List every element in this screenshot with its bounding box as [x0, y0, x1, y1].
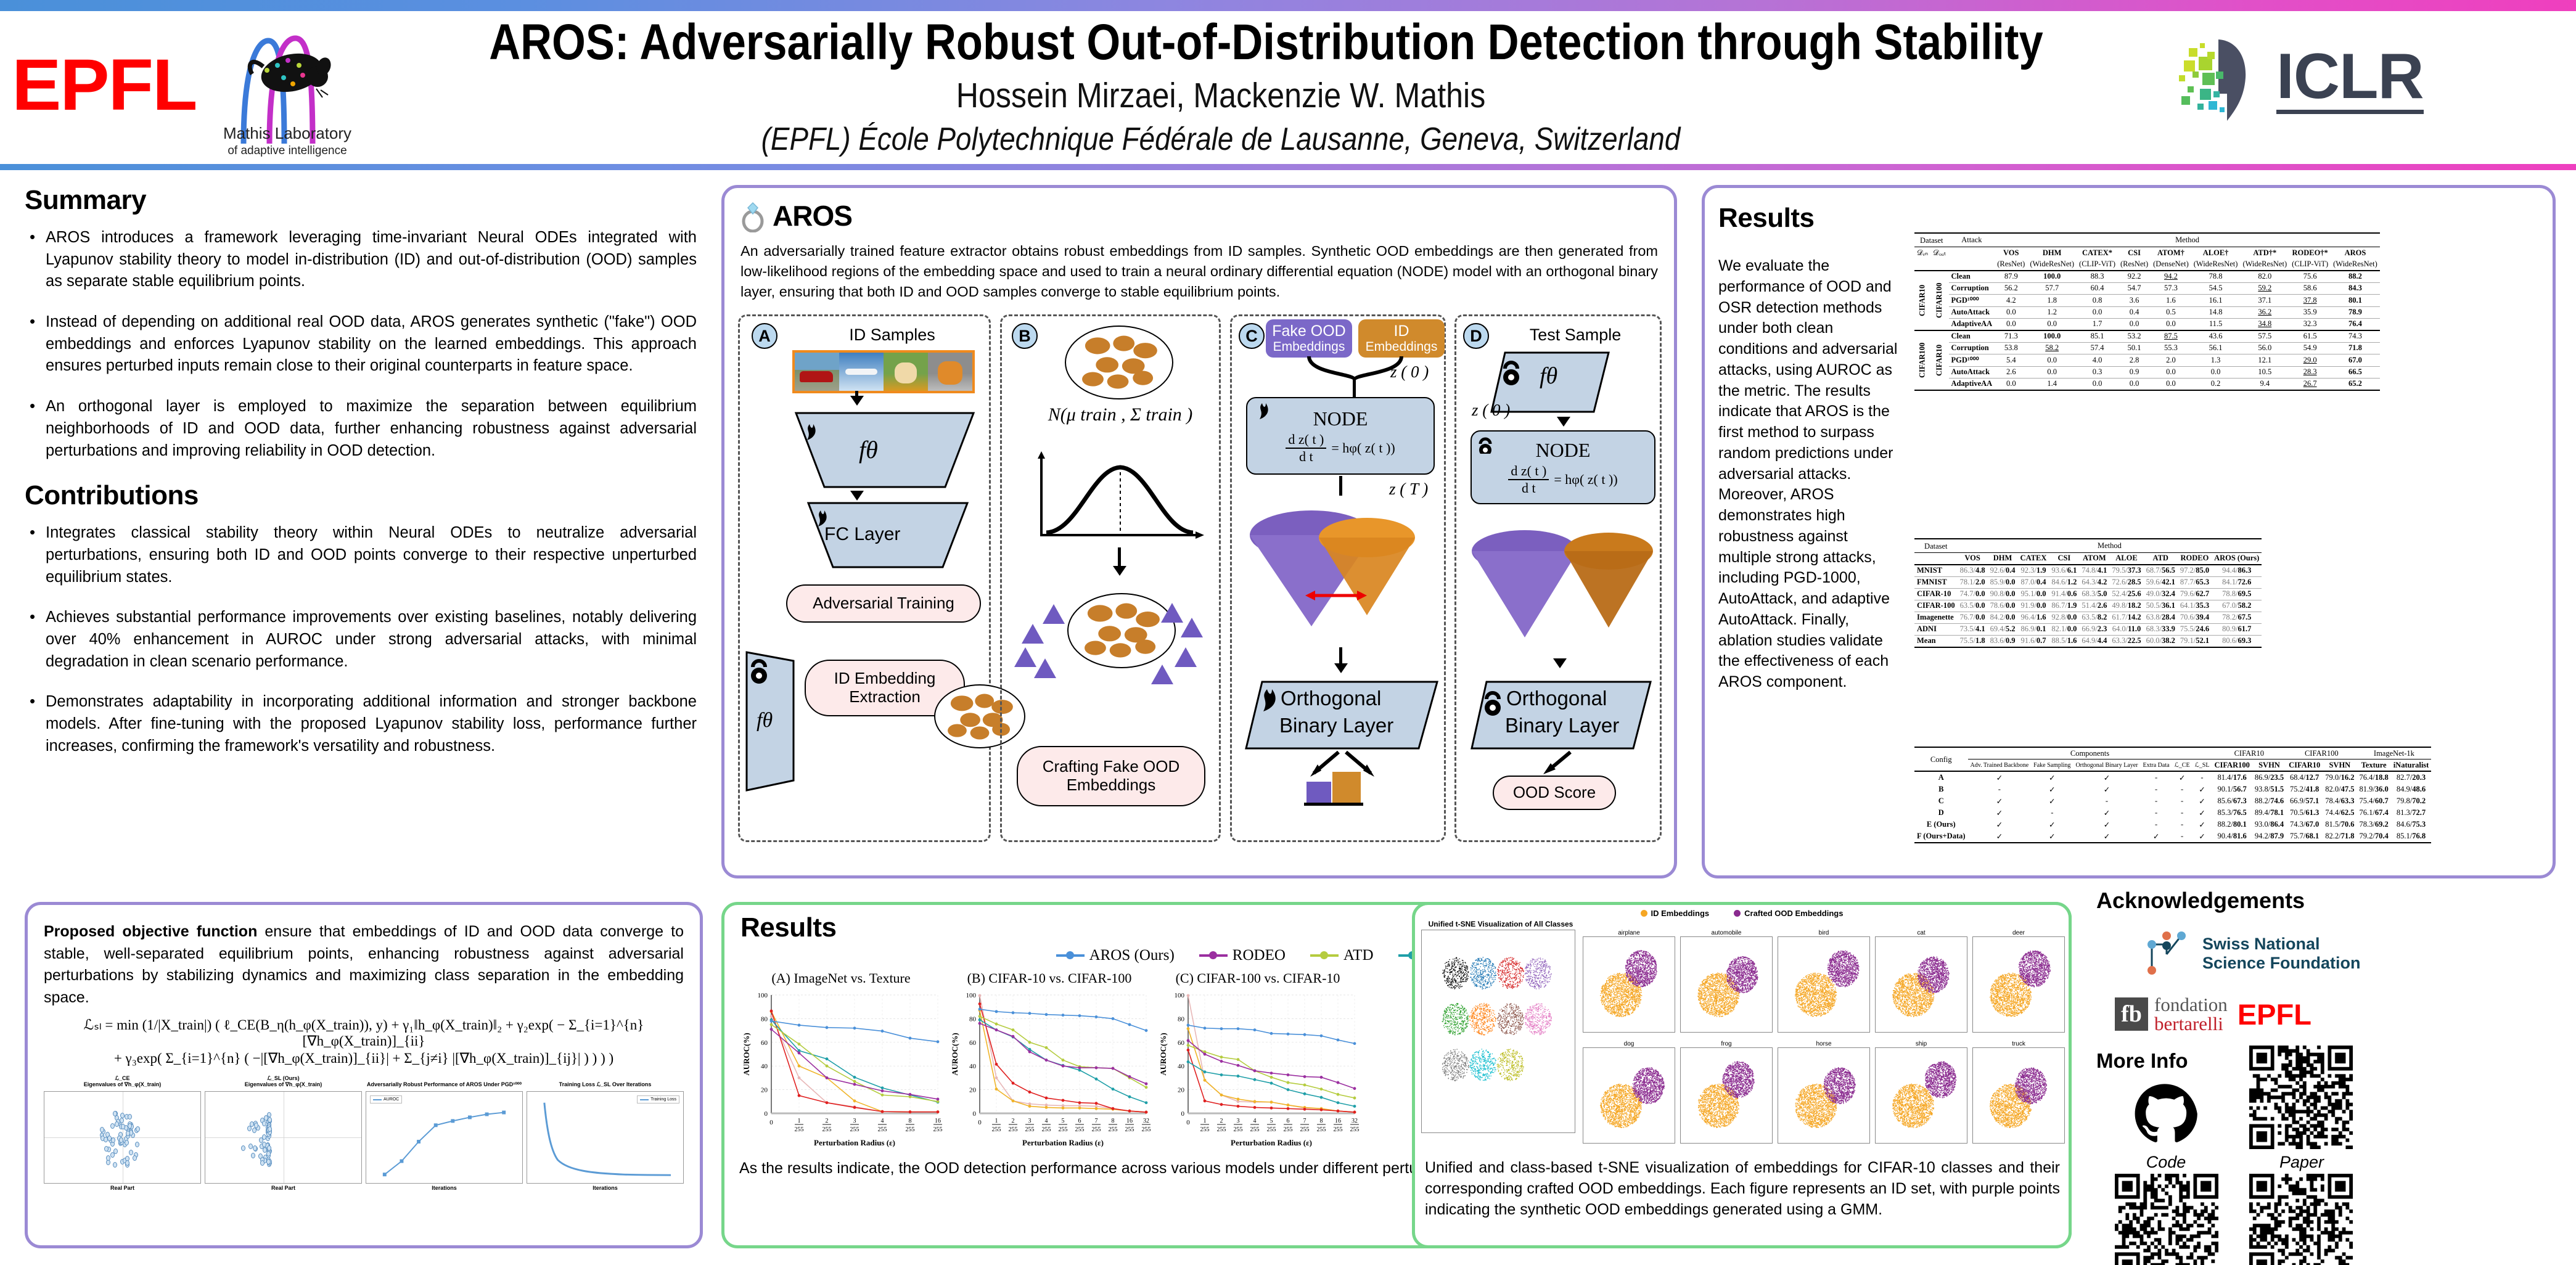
- gaussian-curve-plot: [1034, 444, 1207, 549]
- qr-code-paper-top[interactable]: [2249, 1046, 2353, 1149]
- svg-text:Perturbation Radius (ε): Perturbation Radius (ε): [1022, 1138, 1104, 1147]
- code-label: Code: [2115, 1153, 2217, 1172]
- orthogonal-label-d1: Orthogonal: [1506, 687, 1607, 710]
- svg-text:255: 255: [878, 1126, 887, 1133]
- objective-panel: Proposed objective function ensure that …: [25, 902, 703, 1248]
- fondation-text: fondation bertarelli: [2154, 995, 2228, 1033]
- contributions-list: Integrates classical stability theory wi…: [25, 522, 697, 757]
- badge-d: D: [1463, 323, 1489, 349]
- loss-curve: [527, 1092, 683, 1183]
- svg-text:40: 40: [969, 1063, 977, 1070]
- eigenvalue-chart-sl: ℒ_SL (Ours) Eigenvalues of ∇h_φ(X_train)…: [205, 1075, 362, 1196]
- svg-text:80: 80: [1178, 1015, 1185, 1023]
- svg-text:3: 3: [1237, 1118, 1240, 1124]
- mini-superscript: ℒ_CE: [44, 1075, 201, 1081]
- legend-ood-embeddings: Crafted OOD Embeddings: [1734, 909, 1843, 918]
- tsne-legend: ID Embeddings Crafted OOD Embeddings: [1415, 905, 2069, 918]
- id-sample-images: [792, 350, 975, 393]
- svg-text:255: 255: [822, 1126, 832, 1133]
- fondation-bertarelli-logo: fb fondation bertarelli EPFL: [2115, 995, 2565, 1033]
- svg-text:20: 20: [969, 1087, 977, 1094]
- svg-text:255: 255: [1217, 1126, 1226, 1133]
- objective-formula: ℒₛₗ = min (1/|X_train|) ( ℓ_CE(B_η(h_φ(X…: [44, 1017, 684, 1066]
- list-item: AROS introduces a framework leveraging t…: [25, 227, 697, 293]
- adversarial-training-pill: Adversarial Training: [786, 584, 981, 623]
- svg-text:4: 4: [1045, 1118, 1048, 1124]
- node-eq-den-d: d t: [1508, 480, 1549, 496]
- results-right-panel: Results We evaluate the performance of O…: [1702, 185, 2556, 878]
- svg-text:20: 20: [1178, 1087, 1185, 1094]
- paper-label: Paper: [2250, 1153, 2353, 1172]
- svg-text:255: 255: [1284, 1126, 1293, 1133]
- mini-plot-area: Training Loss: [527, 1091, 684, 1184]
- aros-header: AROS: [724, 188, 1674, 232]
- mini-plot-area: [44, 1091, 201, 1184]
- legend-line: [1199, 954, 1228, 957]
- svg-text:255: 255: [1009, 1126, 1018, 1133]
- poster-header: EPFL Mathis Laboratory of adaptive intel…: [0, 11, 2576, 164]
- table-3: ConfigComponentsCIFAR10CIFAR100ImageNet-…: [1914, 747, 2431, 843]
- chart-title: (B) CIFAR-10 vs. CIFAR-100: [948, 970, 1151, 986]
- auroc-curve: [366, 1092, 522, 1183]
- svg-text:2: 2: [826, 1118, 829, 1124]
- svg-text:255: 255: [850, 1126, 859, 1133]
- svg-text:80: 80: [969, 1015, 977, 1023]
- id-tag-sub: Embeddings: [1366, 340, 1438, 354]
- tsne-class-label: frog: [1680, 1041, 1773, 1047]
- test-sample-label: Test Sample: [1495, 325, 1655, 345]
- svg-text:4: 4: [1253, 1118, 1257, 1124]
- tsne-cell: frog: [1680, 1041, 1773, 1147]
- legend-label: AROS (Ours): [1089, 947, 1175, 964]
- left-column: Summary AROS introduces a framework leve…: [25, 185, 697, 776]
- chart-3: (C) CIFAR-100 vs. CIFAR-1002040608010001…: [1156, 970, 1360, 1156]
- f-theta-locked-label: fθ: [757, 709, 773, 732]
- lab-tagline: of adaptive intelligence: [220, 144, 355, 158]
- snsf-line-2: Science Foundation: [2202, 954, 2361, 973]
- svg-text:0: 0: [765, 1110, 768, 1118]
- fc-layer-label: FC Layer: [824, 524, 900, 545]
- mini-plot-area: [205, 1091, 362, 1184]
- svg-text:8: 8: [1320, 1118, 1323, 1124]
- mini-xlabel: Real Part: [44, 1185, 201, 1191]
- tsne-cell: ship: [1875, 1041, 1967, 1147]
- legend-label-id: ID Embeddings: [1651, 909, 1710, 918]
- tsne-main-title: Unified t-SNE Visualization of All Class…: [1424, 920, 1578, 928]
- legend-item: ATD: [1310, 947, 1374, 964]
- poster-root: EPFL Mathis Laboratory of adaptive intel…: [0, 0, 2576, 1265]
- mini-title: ℒ_CE Eigenvalues of ∇h_φ(X_train): [44, 1075, 201, 1091]
- legend-label: ATD: [1343, 947, 1374, 964]
- svg-text:255: 255: [1092, 1126, 1101, 1133]
- svg-text:255: 255: [1300, 1126, 1310, 1133]
- page-title: AROS: Adversarially Robust Out-of-Distri…: [489, 16, 1953, 69]
- equilibrium-cones-c: [1244, 499, 1441, 647]
- fake-ood-triangles: [1009, 586, 1219, 684]
- svg-text:AUROC(%): AUROC(%): [950, 1033, 959, 1075]
- node-title-c: NODE: [1313, 407, 1368, 430]
- node-eq-num-d: d z( t ): [1508, 463, 1549, 480]
- legend-item: AROS (Ours): [1056, 947, 1175, 964]
- iclr-wordmark: ICLR: [2276, 44, 2424, 114]
- mini-superscript: ℒ_SL (Ours): [205, 1075, 362, 1081]
- svg-text:7: 7: [1095, 1118, 1098, 1124]
- qr-code-code[interactable]: [2115, 1174, 2218, 1265]
- legend-id-embeddings: ID Embeddings: [1641, 909, 1710, 918]
- tsne-class-label: dog: [1583, 1041, 1675, 1047]
- lab-name: Mathis Laboratory: [220, 123, 355, 144]
- mini-title-text: Training Loss ℒ_SL Over Iterations: [527, 1081, 684, 1087]
- node-title-d: NODE: [1536, 439, 1591, 462]
- svg-text:255: 255: [1200, 1126, 1210, 1133]
- header-divider: [0, 164, 2576, 170]
- acknowledgements-section: Acknowledgements Swiss National Science …: [2096, 888, 2565, 1265]
- svg-text:16: 16: [1335, 1118, 1341, 1124]
- tsne-cell: deer: [1972, 930, 2065, 1036]
- mini-title-text: Eigenvalues of ∇h_φ(X_train): [44, 1081, 201, 1087]
- acknowledgements-heading: Acknowledgements: [2096, 888, 2565, 914]
- svg-text:255: 255: [906, 1126, 915, 1133]
- mini-title-text: Eigenvalues of ∇h_φ(X_train): [205, 1081, 362, 1087]
- svg-text:16: 16: [1126, 1118, 1133, 1124]
- svg-text:2: 2: [1012, 1118, 1015, 1124]
- svg-text:AUROC(%): AUROC(%): [1159, 1033, 1168, 1075]
- legend-label: RODEO: [1233, 947, 1286, 964]
- svg-text:255: 255: [933, 1126, 943, 1133]
- svg-text:3: 3: [853, 1118, 856, 1124]
- chart-title: (C) CIFAR-100 vs. CIFAR-10: [1156, 970, 1360, 986]
- flame-icon: [800, 423, 821, 441]
- svg-text:2: 2: [1220, 1118, 1223, 1124]
- svg-text:8: 8: [909, 1118, 912, 1124]
- id-samples-label: ID Samples: [800, 325, 985, 345]
- svg-text:0: 0: [973, 1110, 977, 1118]
- fondation-line-1: fondation: [2154, 995, 2228, 1014]
- iclr-head-icon: [2170, 35, 2263, 124]
- svg-text:255: 255: [1317, 1126, 1326, 1133]
- mini-xlabel: Real Part: [205, 1185, 362, 1191]
- svg-text:100: 100: [1175, 992, 1185, 999]
- svg-text:255: 255: [1234, 1126, 1243, 1133]
- github-icon: [2131, 1081, 2199, 1149]
- svg-text:6: 6: [1287, 1118, 1290, 1124]
- ring-icon: [739, 199, 769, 232]
- svg-text:20: 20: [761, 1087, 768, 1094]
- svg-text:5: 5: [1270, 1118, 1273, 1124]
- snsf-text: Swiss National Science Foundation: [2202, 935, 2361, 973]
- epfl-logo-small: EPFL: [2238, 997, 2311, 1031]
- aros-panel: AROS An adversarially trained feature ex…: [721, 185, 1677, 878]
- svg-text:255: 255: [795, 1126, 804, 1133]
- svg-text:100: 100: [758, 992, 768, 999]
- legend-item: RODEO: [1199, 947, 1286, 964]
- svg-text:255: 255: [1059, 1126, 1068, 1133]
- mini-title: ℒ_SL (Ours) Eigenvalues of ∇h_φ(X_train): [205, 1075, 362, 1091]
- tsne-class-label: cat: [1875, 930, 1967, 936]
- svg-text:255: 255: [1042, 1126, 1051, 1133]
- mini-title-text: Adversarially Robust Performance of AROS…: [366, 1081, 523, 1087]
- tsne-cell: dog: [1583, 1041, 1675, 1147]
- svg-text:255: 255: [1334, 1126, 1343, 1133]
- node-eq-rhs-d: = hφ( z( t )): [1554, 472, 1617, 488]
- sample-image-cat: [928, 353, 972, 391]
- svg-text:255: 255: [1142, 1126, 1151, 1133]
- node-eq-rhs-c: = hφ( z( t )): [1331, 440, 1395, 456]
- ood-bar: [1306, 782, 1331, 803]
- mini-title: Adversarially Robust Performance of AROS…: [366, 1075, 523, 1091]
- tsne-class-label: ship: [1875, 1041, 1967, 1047]
- legend-label-ood: Crafted OOD Embeddings: [1744, 909, 1843, 918]
- svg-text:0: 0: [1186, 1119, 1190, 1126]
- scatter-points: [205, 1092, 361, 1183]
- auroc-iterations-chart: Adversarially Robust Performance of AROS…: [366, 1075, 523, 1196]
- objective-lead: Proposed objective function: [44, 923, 257, 940]
- sample-image-car: [795, 353, 839, 391]
- svg-text:4: 4: [881, 1118, 884, 1124]
- line-chart: 02040608010001255225532554255825516255Pe…: [739, 986, 943, 1153]
- training-loss-chart: Training Loss ℒ_SL Over Iterations Train…: [527, 1075, 684, 1196]
- sample-image-dog: [884, 353, 928, 391]
- orthogonal-label-c2: Binary Layer: [1279, 714, 1393, 737]
- line-chart: 0204060801000125522553255425552556255725…: [948, 986, 1151, 1153]
- chart-1: (A) ImageNet vs. Texture0204060801000125…: [739, 970, 943, 1156]
- tsne-class-label: truck: [1972, 1041, 2065, 1047]
- flame-icon: [1252, 402, 1273, 420]
- zT-label-c: z ( T ): [1389, 480, 1428, 499]
- contributions-heading: Contributions: [25, 480, 697, 511]
- id-embeddings-tag: ID Embeddings: [1358, 319, 1445, 358]
- authors: Hossein Mirzaei, Mackenzie W. Mathis: [472, 75, 1970, 116]
- node-box-c: NODE d z( t ) d t = hφ( z( t )): [1246, 397, 1435, 475]
- affiliation: (EPFL) École Polytechnique Fédérale de L…: [472, 121, 1970, 158]
- svg-text:255: 255: [1109, 1126, 1118, 1133]
- svg-text:255: 255: [1075, 1126, 1085, 1133]
- badge-a: A: [752, 323, 777, 349]
- fake-ood-title: Fake OOD: [1272, 323, 1345, 340]
- iclr-logo: ICLR: [2170, 35, 2424, 124]
- formula-line-1: ℒₛₗ = min (1/|X_train|) ( ℓ_CE(B_η(h_φ(X…: [44, 1017, 684, 1049]
- list-item: Demonstrates adaptability in incorporati…: [25, 691, 697, 757]
- scatter-points: [44, 1092, 200, 1183]
- z0-label-c: z ( 0 ): [1390, 362, 1429, 382]
- z0-label-d: z ( 0 ): [1472, 401, 1510, 420]
- legend-line: [1310, 954, 1339, 957]
- list-item: An orthogonal layer is employed to maxim…: [25, 396, 697, 462]
- snsf-line-1: Swiss National: [2202, 935, 2361, 954]
- line-chart: 0204060801000125522553255425552556255725…: [1156, 986, 1360, 1153]
- svg-text:6: 6: [1078, 1118, 1081, 1124]
- score-arrow: [1533, 750, 1589, 777]
- tsne-cell: cat: [1875, 930, 1967, 1036]
- svg-text:60: 60: [969, 1039, 977, 1047]
- mini-title: Training Loss ℒ_SL Over Iterations: [527, 1075, 684, 1091]
- tsne-cell: horse: [1778, 1041, 1870, 1147]
- fake-ood-sub: Embeddings: [1273, 340, 1345, 354]
- tsne-grid: airplaneautomobilebirdcatdeerdogfroghors…: [1421, 930, 2062, 1152]
- results-right-text: We evaluate the performance of OOD and O…: [1718, 256, 1903, 693]
- node-eq-num-c: d z( t ): [1286, 432, 1326, 449]
- svg-text:32: 32: [1352, 1118, 1358, 1124]
- svg-text:255: 255: [1267, 1126, 1276, 1133]
- gaussian-label: N(μ train , Σ train ): [1022, 404, 1219, 425]
- svg-text:7: 7: [1303, 1118, 1306, 1124]
- list-item: Instead of depending on additional real …: [25, 311, 697, 377]
- svg-text:3: 3: [1028, 1118, 1032, 1124]
- id-tag-title: ID: [1394, 323, 1409, 340]
- legend-line: [1056, 954, 1085, 957]
- mini-plot-area: AUROC: [366, 1091, 523, 1184]
- ood-score-pill: OOD Score: [1493, 776, 1616, 810]
- lock-icon: [1498, 356, 1525, 386]
- tsne-cell: airplane: [1583, 930, 1675, 1036]
- aros-heading: AROS: [773, 199, 852, 232]
- tsne-cell: automobile: [1680, 930, 1773, 1036]
- svg-text:1: 1: [798, 1118, 801, 1124]
- orthogonal-label-d2: Binary Layer: [1505, 714, 1619, 737]
- svg-text:255: 255: [1125, 1126, 1134, 1133]
- fondation-line-2: bertarelli: [2154, 1014, 2228, 1033]
- f-theta-test-label: fθ: [1540, 362, 1557, 390]
- svg-text:255: 255: [1350, 1126, 1360, 1133]
- chart-title: (A) ImageNet vs. Texture: [739, 970, 943, 986]
- tsne-class-label: airplane: [1583, 930, 1675, 936]
- tsne-panel: ID Embeddings Crafted OOD Embeddings Uni…: [1412, 902, 2072, 1248]
- node-box-d: NODE d z( t ) d t = hφ( z( t )): [1471, 430, 1655, 504]
- tsne-cell: truck: [1972, 1041, 2065, 1147]
- mathis-lab-caption: Mathis Laboratory of adaptive intelligen…: [220, 123, 355, 158]
- lock-icon: [745, 655, 773, 684]
- svg-text:AUROC(%): AUROC(%): [742, 1033, 751, 1075]
- results-bottom-heading: Results: [740, 912, 836, 943]
- id-bar: [1332, 772, 1361, 803]
- table-2: DatasetMethodVOSDHMCATEXCSIATOMALOEATDRO…: [1914, 538, 2262, 648]
- orthogonal-label-c1: Orthogonal: [1281, 687, 1381, 710]
- top-gradient-bar: [0, 0, 2576, 11]
- svg-text:8: 8: [1112, 1118, 1115, 1124]
- table-1: DatasetAttackMethod𝒟ₑₙ𝒟ₒᵤₜVOSDHMCATEX*CS…: [1914, 232, 2380, 391]
- summary-heading: Summary: [25, 185, 697, 216]
- fake-ood-embeddings-tag: Fake OOD Embeddings: [1266, 319, 1352, 358]
- qr-code-paper[interactable]: [2249, 1174, 2353, 1265]
- eigenvalue-chart-ce: ℒ_CE Eigenvalues of ∇h_φ(X_train) Real P…: [44, 1075, 201, 1196]
- svg-text:60: 60: [1178, 1039, 1185, 1047]
- svg-text:16: 16: [935, 1118, 941, 1124]
- summary-list: AROS introduces a framework leveraging t…: [25, 227, 697, 462]
- svg-text:80: 80: [761, 1015, 768, 1023]
- lock-icon: [1475, 435, 1496, 454]
- tsne-class-label: automobile: [1680, 930, 1773, 936]
- equilibrium-cones-d: [1466, 517, 1657, 658]
- mini-xlabel: Iterations: [527, 1185, 684, 1191]
- tsne-class-label: deer: [1972, 930, 2065, 936]
- badge-c: C: [1239, 323, 1265, 349]
- crafting-fake-ood-pill: Crafting Fake OOD Embeddings: [1017, 746, 1205, 806]
- tsne-caption: Unified and class-based t-SNE visualizat…: [1425, 1158, 2060, 1220]
- title-block: AROS: Adversarially Robust Out-of-Distri…: [370, 16, 2072, 158]
- tsne-class-label: bird: [1778, 930, 1870, 936]
- svg-text:1: 1: [1204, 1118, 1207, 1124]
- aros-intro-text: An adversarially trained feature extract…: [724, 232, 1674, 302]
- sample-image-airplane: [839, 353, 884, 391]
- svg-text:5: 5: [1062, 1118, 1065, 1124]
- svg-text:32: 32: [1143, 1118, 1149, 1124]
- qr-area: Code Paper: [2096, 1075, 2565, 1265]
- svg-text:255: 255: [992, 1126, 1001, 1133]
- results-right-heading: Results: [1718, 203, 1814, 234]
- objective-text: Proposed objective function ensure that …: [44, 921, 684, 1009]
- snsf-nodes-icon: [2139, 927, 2192, 980]
- svg-text:Perturbation Radius (ε): Perturbation Radius (ε): [814, 1138, 895, 1147]
- flame-icon: [1253, 687, 1281, 716]
- svg-text:100: 100: [966, 992, 977, 999]
- list-item: Integrates classical stability theory wi…: [25, 522, 697, 588]
- f-theta-label: fθ: [859, 435, 878, 464]
- badge-b: B: [1012, 323, 1038, 349]
- formula-line-2: + γ₃exp( Σ_{i=1}^{n} ( −|[∇h_φ(X_train)]…: [44, 1050, 684, 1066]
- svg-text:255: 255: [1025, 1126, 1035, 1133]
- tsne-class-label: horse: [1778, 1041, 1870, 1047]
- list-item: Achieves substantial performance improve…: [25, 607, 697, 673]
- svg-text:40: 40: [1178, 1063, 1185, 1070]
- chart-2: (B) CIFAR-10 vs. CIFAR-10002040608010001…: [948, 970, 1151, 1156]
- svg-text:60: 60: [761, 1039, 768, 1047]
- svg-text:0: 0: [769, 1119, 773, 1126]
- fb-monogram: fb: [2115, 997, 2148, 1031]
- svg-text:1: 1: [995, 1118, 998, 1124]
- lock-icon: [1479, 687, 1506, 716]
- svg-text:0: 0: [978, 1119, 982, 1126]
- svg-text:Perturbation Radius (ε): Perturbation Radius (ε): [1231, 1138, 1312, 1147]
- mini-xlabel: Iterations: [366, 1185, 523, 1191]
- epfl-logo: EPFL: [12, 43, 196, 127]
- mini-chart-row: ℒ_CE Eigenvalues of ∇h_φ(X_train) Real P…: [44, 1075, 684, 1196]
- svg-text:255: 255: [1250, 1126, 1260, 1133]
- snsf-logo: Swiss National Science Foundation: [2139, 927, 2565, 980]
- method-diagram: A ID Samples fθ FC Layer Adversarial Tra…: [738, 314, 1663, 863]
- svg-text:40: 40: [761, 1063, 768, 1070]
- svg-text:0: 0: [1181, 1110, 1185, 1118]
- tsne-cell: bird: [1778, 930, 1870, 1036]
- node-eq-den-c: d t: [1286, 449, 1326, 465]
- gaussian-cluster: [1065, 325, 1173, 399]
